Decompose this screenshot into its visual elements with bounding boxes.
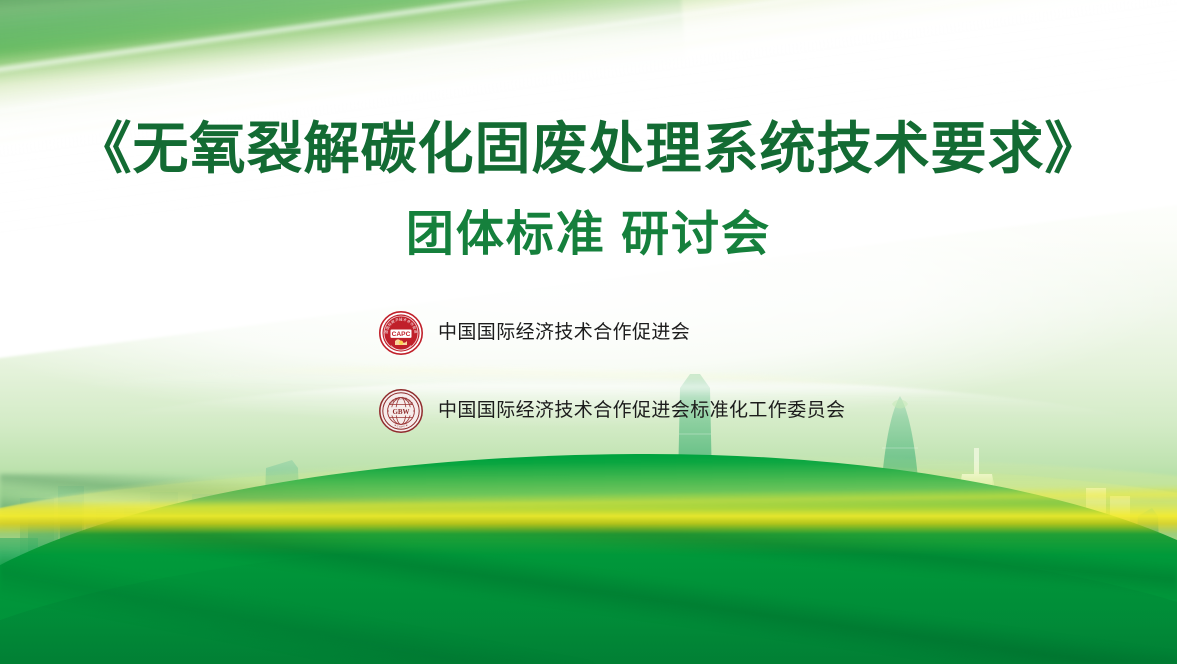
organization-row-gbw: 标准化工作委员会 GBW ★ C A P C ★ 中国国际经济技术合作促进会标准…: [378, 388, 845, 434]
presentation-slide: 《无氧裂解碳化固废处理系统技术要求》 团体标准 研讨会 中国国际经济技术合作促进…: [0, 0, 1177, 664]
slide-content: 《无氧裂解碳化固废处理系统技术要求》 团体标准 研讨会 中国国际经济技术合作促进…: [0, 0, 1177, 664]
svg-text:GBW: GBW: [392, 408, 409, 416]
capc-seal-icon: 中国国际经济技术合作促进会 CAPC: [378, 310, 424, 356]
organization-row-capc: 中国国际经济技术合作促进会 CAPC 中国国际经济技术合作促进会: [378, 310, 690, 356]
gbw-seal-icon: 标准化工作委员会 GBW ★ C A P C ★: [378, 388, 424, 434]
slide-title-subtitle: 团体标准 研讨会: [0, 204, 1177, 266]
slide-title-main: 《无氧裂解碳化固废处理系统技术要求》: [0, 114, 1177, 184]
svg-text:CAPC: CAPC: [392, 331, 411, 338]
organization-label: 中国国际经济技术合作促进会标准化工作委员会: [438, 400, 845, 422]
organization-label: 中国国际经济技术合作促进会: [438, 322, 690, 344]
